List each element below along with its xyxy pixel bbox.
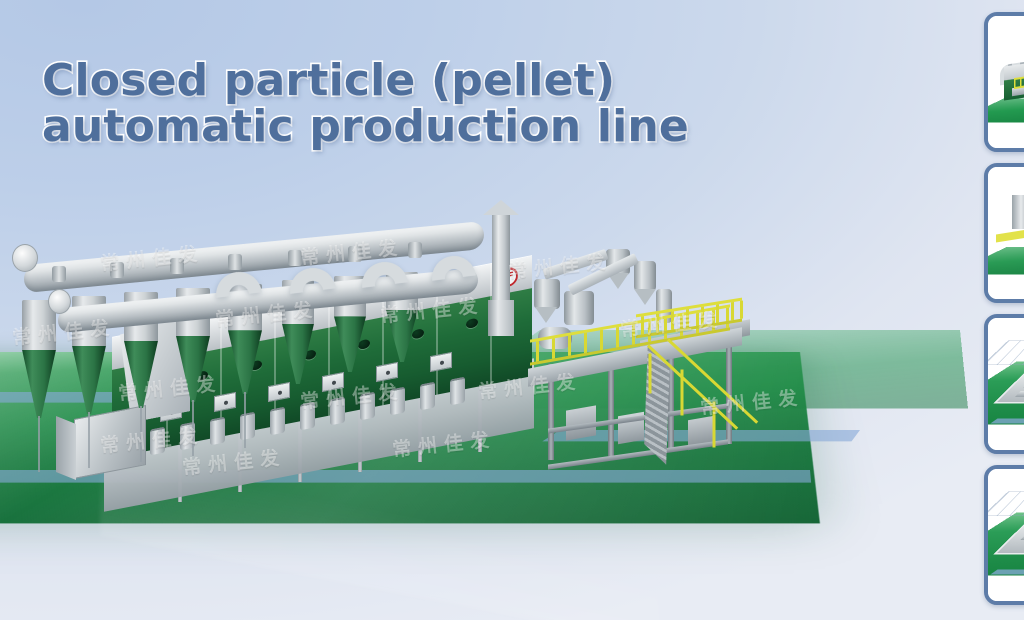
drive-motor [240,412,255,441]
duct-riser [408,242,422,258]
weigh-hopper [634,261,656,291]
drive-motor [210,417,225,446]
cyclone-discharge-stem [88,412,90,468]
cyclone-separator [22,300,56,418]
drive-motor [270,407,285,436]
thumbnail-3[interactable] [984,314,1024,454]
stack-rain-cap [483,200,519,215]
cyclone-discharge-stem [244,392,246,448]
drive-motor [420,382,435,411]
stair-post [649,354,652,394]
mini-equipment-row [1015,391,1024,397]
stair-post [713,402,716,448]
cyclone-cone [228,330,262,394]
drive-motor [360,392,375,421]
duct-riser [170,258,184,274]
mini-platform [996,228,1024,243]
cyclone-cone [72,346,106,414]
cyclone-discharge-stem [140,406,142,462]
duct-riser [228,254,242,270]
duct-end-cap [48,289,71,314]
mini-aisle [990,419,1024,424]
mini-perimeter-fence [988,491,1024,516]
duct-riser [288,250,302,266]
cyclone-cone [334,316,366,372]
duct-riser [110,262,124,278]
mini-equipment-row [1020,535,1024,540]
drive-motor [390,387,405,416]
duct-riser [348,246,362,262]
cyclone-cone [124,341,158,408]
mini-aisle [990,570,1024,575]
mini-perimeter-fence [988,340,1024,365]
drive-motor [450,377,465,406]
mini-floor [988,98,1024,122]
banner-title: Closed particle (pellet) automatic produ… [42,58,689,150]
mini-tower [1012,195,1024,229]
cabinet-side [56,416,76,480]
title-line-2: automatic production line [42,104,689,150]
thumbnail-4[interactable] [984,465,1024,605]
thumbnail-2[interactable] [984,163,1024,303]
stair-post [681,370,684,416]
mixer-vessel [564,291,594,325]
title-line-1: Closed particle (pellet) [42,58,689,104]
dryer-panel-seam [328,294,330,415]
duct-riser [52,266,66,282]
exhaust-stack-base [488,300,514,336]
thumbnail-1-image [988,16,1024,148]
duct-end-cap [12,244,38,272]
cyclone-discharge-stem [38,416,40,472]
drive-motor [150,427,165,456]
cyclone-cone [282,324,314,384]
drive-motor [300,402,315,431]
drive-motor [330,397,345,426]
thumbnail-2-image [988,167,1024,299]
cyclone-discharge-stem [192,400,194,456]
thumbnail-1[interactable] [984,12,1024,152]
cyclone-cone [386,310,418,362]
mini-floor [988,247,1024,275]
vessel-cone [535,307,557,323]
thumbnail-4-image [988,469,1024,601]
thumbnail-3-image [988,318,1024,450]
vessel-cone [634,289,656,305]
product-banner: JF [0,0,1024,620]
feed-vessel [534,279,560,309]
cyclone-cone [176,336,210,402]
cyclone-cone [22,350,56,418]
